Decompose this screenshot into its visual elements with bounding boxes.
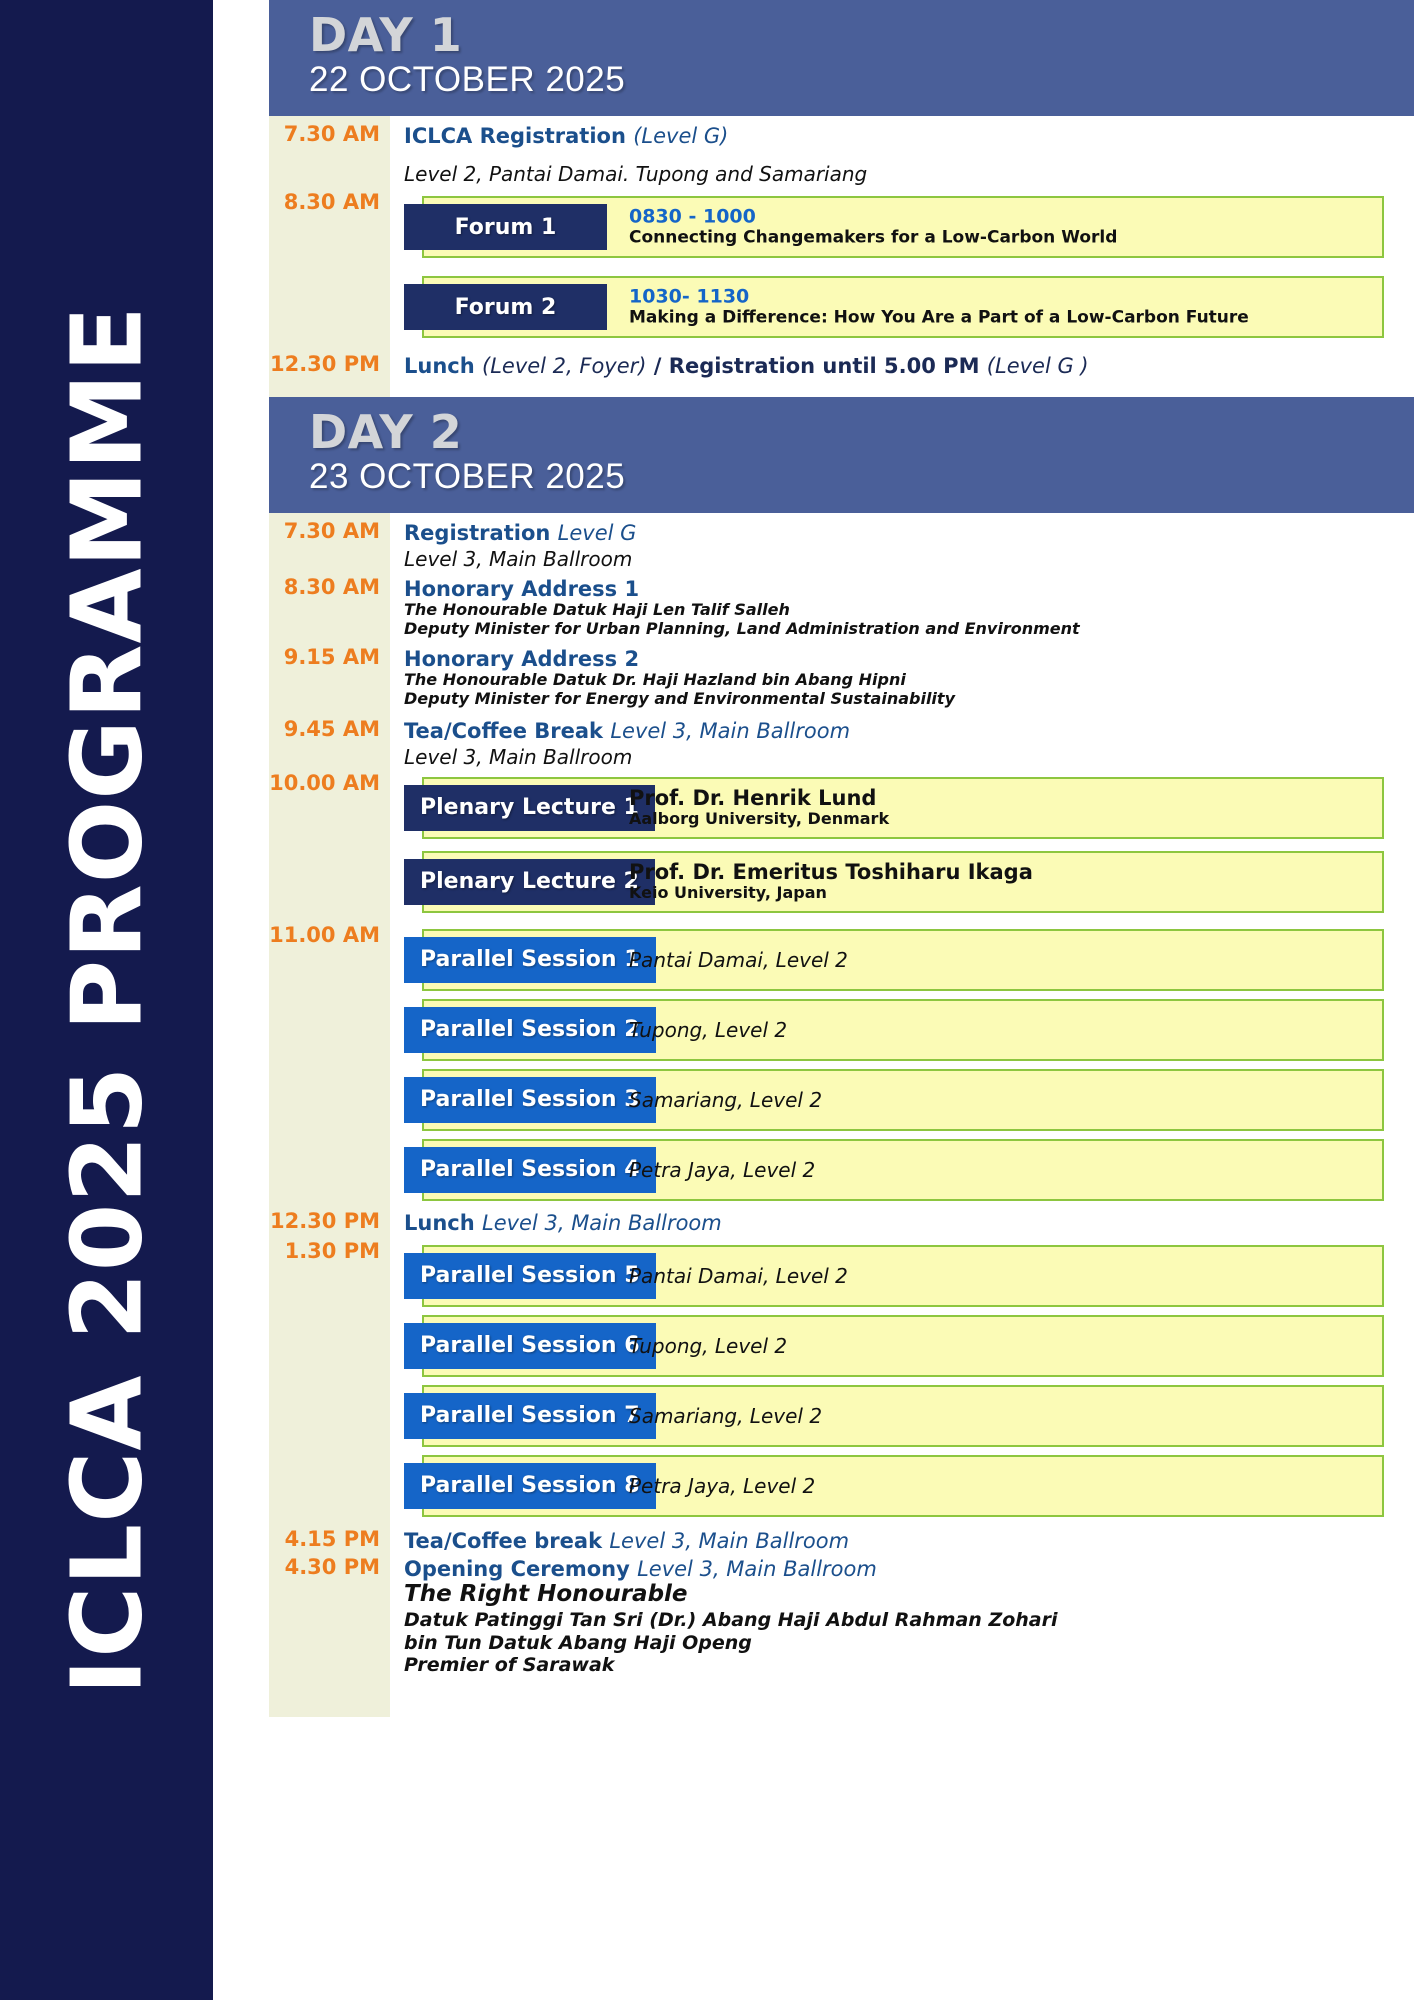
- event-location-secondary: (Level G ): [987, 354, 1089, 378]
- row-content: Parallel Session 2 Tupong, Level 2: [390, 995, 1414, 1061]
- speaker-name: Prof. Dr. Henrik Lund: [629, 787, 889, 811]
- guest-of-honour-title: Premier of Sarawak: [404, 1654, 1414, 1677]
- event-title-line: ICLCA Registration (Level G): [404, 124, 1414, 148]
- speaker-name: The Honourable Datuk Dr. Haji Hazland bi…: [404, 671, 1414, 690]
- day-date-2: 23 OCTOBER 2025: [309, 457, 1414, 497]
- row-content: Level 2, Pantai Damai. Tupong and Samari…: [390, 162, 1414, 186]
- schedule-row: 9.15 AM Honorary Address 2 The Honourabl…: [269, 639, 1414, 709]
- session-venue: Samariang, Level 2: [629, 1404, 822, 1428]
- session-bar-text: Samariang, Level 2: [629, 1404, 822, 1428]
- event-title: Registration: [404, 521, 550, 545]
- schedule-row: 10.00 AM Plenary Lecture 1 Prof. Dr. Hen…: [269, 769, 1414, 839]
- day-number-2: DAY 2: [309, 409, 1414, 455]
- venue-note: Level 3, Main Ballroom: [404, 547, 1414, 571]
- row-time: 4.15 PM: [269, 1529, 390, 1550]
- schedule-row: 12.30 PM Lunch (Level 2, Foyer) / Regist…: [269, 338, 1414, 396]
- session-bar-text: Tupong, Level 2: [629, 1334, 787, 1358]
- session-bar[interactable]: Forum 1 0830 - 1000 Connecting Changemak…: [404, 196, 1414, 258]
- row-content: Lunch (Level 2, Foyer) / Registration un…: [390, 354, 1414, 378]
- event-separator: /: [646, 354, 668, 378]
- schedule-row: Level 2, Pantai Damai. Tupong and Samari…: [269, 148, 1414, 186]
- session-description: Making a Difference: How You Are a Part …: [629, 309, 1249, 329]
- session-tag[interactable]: Plenary Lecture 2: [404, 859, 655, 905]
- event-title-line: Opening Ceremony Level 3, Main Ballroom: [404, 1557, 1414, 1581]
- session-bar-text: Samariang, Level 2: [629, 1088, 822, 1112]
- session-venue: Samariang, Level 2: [629, 1088, 822, 1112]
- session-tag[interactable]: Parallel Session 3: [404, 1077, 656, 1123]
- row-time: 9.45 AM: [269, 719, 390, 740]
- day-number-1: DAY 1: [309, 12, 1414, 58]
- event-title-secondary: Registration until 5.00 PM: [669, 354, 980, 378]
- guest-of-honour-name-line2: bin Tun Datuk Abang Haji Openg: [404, 1632, 1414, 1655]
- session-bar-text: Pantai Damai, Level 2: [629, 948, 848, 972]
- session-bar-text: Petra Jaya, Level 2: [629, 1158, 815, 1182]
- speaker-name: The Honourable Datuk Haji Len Talif Sall…: [404, 601, 1414, 620]
- schedule-row: 12.30 PM Lunch Level 3, Main Ballroom: [269, 1201, 1414, 1235]
- row-content: Parallel Session 3 Samariang, Level 2: [390, 1065, 1414, 1131]
- session-bar[interactable]: Parallel Session 3 Samariang, Level 2: [404, 1069, 1414, 1131]
- row-content: Honorary Address 2 The Honourable Datuk …: [390, 647, 1414, 709]
- schedule-row: Level 3, Main Ballroom: [269, 545, 1414, 571]
- session-bar-text: Prof. Dr. Emeritus Toshiharu Ikaga Keio …: [629, 861, 1033, 903]
- programme-page: ICLCA 2025 PROGRAMME DAY 1 22 OCTOBER 20…: [0, 0, 1414, 2000]
- session-venue: Tupong, Level 2: [629, 1334, 787, 1358]
- session-bar[interactable]: Parallel Session 5 Pantai Damai, Level 2: [404, 1245, 1414, 1307]
- session-bar[interactable]: Plenary Lecture 1 Prof. Dr. Henrik Lund …: [404, 777, 1414, 839]
- session-venue: Pantai Damai, Level 2: [629, 948, 848, 972]
- row-content: Level 3, Main Ballroom: [390, 745, 1414, 769]
- session-bar[interactable]: Parallel Session 8 Petra Jaya, Level 2: [404, 1455, 1414, 1517]
- guest-of-honour-name-line1: Datuk Patinggi Tan Sri (Dr.) Abang Haji …: [404, 1609, 1414, 1632]
- speaker-affiliation: Aalborg University, Denmark: [629, 810, 889, 828]
- event-title-line: Lunch (Level 2, Foyer) / Registration un…: [404, 354, 1414, 378]
- schedule-row: Parallel Session 3 Samariang, Level 2: [269, 1061, 1414, 1131]
- session-bar-text: Tupong, Level 2: [629, 1018, 787, 1042]
- session-bar[interactable]: Parallel Session 6 Tupong, Level 2: [404, 1315, 1414, 1377]
- session-venue: Petra Jaya, Level 2: [629, 1474, 815, 1498]
- schedule-row: Parallel Session 2 Tupong, Level 2: [269, 991, 1414, 1061]
- session-tag[interactable]: Forum 2: [404, 284, 607, 330]
- event-title: Lunch: [404, 1211, 475, 1235]
- row-time: 8.30 AM: [269, 192, 390, 213]
- row-time: 10.00 AM: [269, 773, 390, 794]
- session-bar[interactable]: Parallel Session 7 Samariang, Level 2: [404, 1385, 1414, 1447]
- session-bar-text: 1030- 1130 Making a Difference: How You …: [629, 287, 1249, 328]
- session-venue: Tupong, Level 2: [629, 1018, 787, 1042]
- row-content: Plenary Lecture 1 Prof. Dr. Henrik Lund …: [390, 773, 1414, 839]
- row-time: 11.00 AM: [269, 925, 390, 946]
- row-time: 7.30 AM: [269, 124, 390, 145]
- session-venue: Petra Jaya, Level 2: [629, 1158, 815, 1182]
- session-tag[interactable]: Parallel Session 6: [404, 1323, 656, 1369]
- row-content: Forum 2 1030- 1130 Making a Difference: …: [390, 272, 1414, 338]
- row-content: Lunch Level 3, Main Ballroom: [390, 1211, 1414, 1235]
- venue-note: Level 3, Main Ballroom: [404, 745, 1414, 769]
- session-tag[interactable]: Parallel Session 2: [404, 1007, 656, 1053]
- speaker-role: Deputy Minister for Urban Planning, Land…: [404, 620, 1414, 639]
- schedule-row: 4.15 PM Tea/Coffee break Level 3, Main B…: [269, 1517, 1414, 1553]
- schedule-day-2: 7.30 AM Registration Level G Level 3, Ma…: [269, 513, 1414, 1717]
- row-content: Parallel Session 5 Pantai Damai, Level 2: [390, 1241, 1414, 1307]
- event-location: Level 3, Main Ballroom: [482, 1211, 722, 1235]
- speaker-name: Prof. Dr. Emeritus Toshiharu Ikaga: [629, 861, 1033, 885]
- session-time-range: 1030- 1130: [629, 287, 1249, 309]
- schedule-row: Forum 2 1030- 1130 Making a Difference: …: [269, 258, 1414, 338]
- session-bar[interactable]: Parallel Session 4 Petra Jaya, Level 2: [404, 1139, 1414, 1201]
- schedule-row: Level 3, Main Ballroom: [269, 743, 1414, 769]
- speaker-role: Deputy Minister for Energy and Environme…: [404, 690, 1414, 709]
- event-location: (Level 2, Foyer): [482, 354, 646, 378]
- guest-of-honour-headline: The Right Honourable: [404, 1581, 1414, 1609]
- event-title-line: Tea/Coffee break Level 3, Main Ballroom: [404, 1529, 1414, 1553]
- session-bar-text: Pantai Damai, Level 2: [629, 1264, 848, 1288]
- session-bar-text: Petra Jaya, Level 2: [629, 1474, 815, 1498]
- row-content: Tea/Coffee break Level 3, Main Ballroom: [390, 1529, 1414, 1553]
- venue-note: Level 2, Pantai Damai. Tupong and Samari…: [404, 162, 1414, 186]
- row-content: Parallel Session 6 Tupong, Level 2: [390, 1311, 1414, 1377]
- session-bar[interactable]: Parallel Session 1 Pantai Damai, Level 2: [404, 929, 1414, 991]
- row-time: 12.30 PM: [269, 1211, 390, 1232]
- speaker-affiliation: Keio University, Japan: [629, 884, 1033, 902]
- schedule-row: 9.45 AM Tea/Coffee Break Level 3, Main B…: [269, 709, 1414, 743]
- schedule-row: Parallel Session 8 Petra Jaya, Level 2: [269, 1447, 1414, 1517]
- session-tag[interactable]: Parallel Session 1: [404, 937, 656, 983]
- session-bar[interactable]: Forum 2 1030- 1130 Making a Difference: …: [404, 276, 1414, 338]
- schedule-row: Plenary Lecture 2 Prof. Dr. Emeritus Tos…: [269, 839, 1414, 913]
- sidebar-gap: [213, 0, 269, 2000]
- day-date-1: 22 OCTOBER 2025: [309, 60, 1414, 100]
- schedule-row: 1.30 PM Parallel Session 5 Pantai Damai,…: [269, 1235, 1414, 1307]
- session-tag[interactable]: Parallel Session 4: [404, 1147, 656, 1193]
- event-title-line: Tea/Coffee Break Level 3, Main Ballroom: [404, 719, 1414, 743]
- session-bar[interactable]: Plenary Lecture 2 Prof. Dr. Emeritus Tos…: [404, 851, 1414, 913]
- day-header-1: DAY 1 22 OCTOBER 2025: [269, 0, 1414, 116]
- event-title-line: Registration Level G: [404, 521, 1414, 545]
- row-time: 12.30 PM: [269, 354, 390, 375]
- row-time: 1.30 PM: [269, 1241, 390, 1262]
- event-location: Level 3, Main Ballroom: [610, 719, 850, 743]
- schedule-row: Parallel Session 4 Petra Jaya, Level 2: [269, 1131, 1414, 1201]
- row-content: Plenary Lecture 2 Prof. Dr. Emeritus Tos…: [390, 847, 1414, 913]
- session-tag[interactable]: Forum 1: [404, 204, 607, 250]
- row-time: 4.30 PM: [269, 1557, 390, 1578]
- row-content: Honorary Address 1 The Honourable Datuk …: [390, 577, 1414, 639]
- sidebar-title: ICLCA 2025 PROGRAMME: [50, 305, 163, 1695]
- event-title: Honorary Address 2: [404, 647, 1414, 671]
- row-content: Opening Ceremony Level 3, Main Ballroom …: [390, 1557, 1414, 1677]
- event-location: Level 3, Main Ballroom: [637, 1557, 877, 1581]
- session-bar-text: Prof. Dr. Henrik Lund Aalborg University…: [629, 787, 889, 829]
- event-location: Level G: [558, 521, 637, 545]
- schedule-row: Parallel Session 7 Samariang, Level 2: [269, 1377, 1414, 1447]
- session-tag[interactable]: Plenary Lecture 1: [404, 785, 655, 831]
- schedule-row: 4.30 PM Opening Ceremony Level 3, Main B…: [269, 1553, 1414, 1717]
- event-title: Honorary Address 1: [404, 577, 1414, 601]
- event-title: Lunch: [404, 354, 475, 378]
- event-title-line: Lunch Level 3, Main Ballroom: [404, 1211, 1414, 1235]
- event-location: Level 3, Main Ballroom: [609, 1529, 849, 1553]
- session-tag[interactable]: Parallel Session 8: [404, 1463, 656, 1509]
- row-content: Parallel Session 4 Petra Jaya, Level 2: [390, 1135, 1414, 1201]
- session-time-range: 0830 - 1000: [629, 207, 1117, 229]
- row-content: Parallel Session 8 Petra Jaya, Level 2: [390, 1451, 1414, 1517]
- session-bar-text: 0830 - 1000 Connecting Changemakers for …: [629, 207, 1117, 248]
- schedule-row: 8.30 AM Forum 1 0830 - 1000 Connecting C…: [269, 186, 1414, 258]
- schedule-day-1: 7.30 AM ICLCA Registration (Level G) Lev…: [269, 116, 1414, 396]
- schedule-row: Parallel Session 6 Tupong, Level 2: [269, 1307, 1414, 1377]
- row-content: ICLCA Registration (Level G): [390, 124, 1414, 148]
- schedule-row: 7.30 AM ICLCA Registration (Level G): [269, 116, 1414, 148]
- row-content: Forum 1 0830 - 1000 Connecting Changemak…: [390, 192, 1414, 258]
- event-title: Tea/Coffee Break: [404, 719, 603, 743]
- session-tag[interactable]: Parallel Session 5: [404, 1253, 656, 1299]
- session-bar[interactable]: Parallel Session 2 Tupong, Level 2: [404, 999, 1414, 1061]
- session-venue: Pantai Damai, Level 2: [629, 1264, 848, 1288]
- day-header-2: DAY 2 23 OCTOBER 2025: [269, 397, 1414, 513]
- row-time: 7.30 AM: [269, 521, 390, 542]
- session-description: Connecting Changemakers for a Low-Carbon…: [629, 229, 1117, 249]
- row-time: 8.30 AM: [269, 577, 390, 598]
- schedule-row: 11.00 AM Parallel Session 1 Pantai Damai…: [269, 913, 1414, 991]
- sidebar: ICLCA 2025 PROGRAMME: [0, 0, 213, 2000]
- session-tag[interactable]: Parallel Session 7: [404, 1393, 656, 1439]
- row-content: Tea/Coffee Break Level 3, Main Ballroom: [390, 719, 1414, 743]
- row-content: Registration Level G: [390, 521, 1414, 545]
- row-content: Parallel Session 7 Samariang, Level 2: [390, 1381, 1414, 1447]
- event-title: Opening Ceremony: [404, 1557, 630, 1581]
- schedule-row: 8.30 AM Honorary Address 1 The Honourabl…: [269, 571, 1414, 639]
- row-content: Parallel Session 1 Pantai Damai, Level 2: [390, 925, 1414, 991]
- row-time: 9.15 AM: [269, 647, 390, 668]
- main-column: DAY 1 22 OCTOBER 2025 7.30 AM ICLCA Regi…: [269, 0, 1414, 2000]
- event-title: Tea/Coffee break: [404, 1529, 602, 1553]
- schedule-row: 7.30 AM Registration Level G: [269, 513, 1414, 545]
- event-title: ICLCA Registration: [404, 124, 626, 148]
- event-location: (Level G): [633, 124, 728, 148]
- row-content: Level 3, Main Ballroom: [390, 547, 1414, 571]
